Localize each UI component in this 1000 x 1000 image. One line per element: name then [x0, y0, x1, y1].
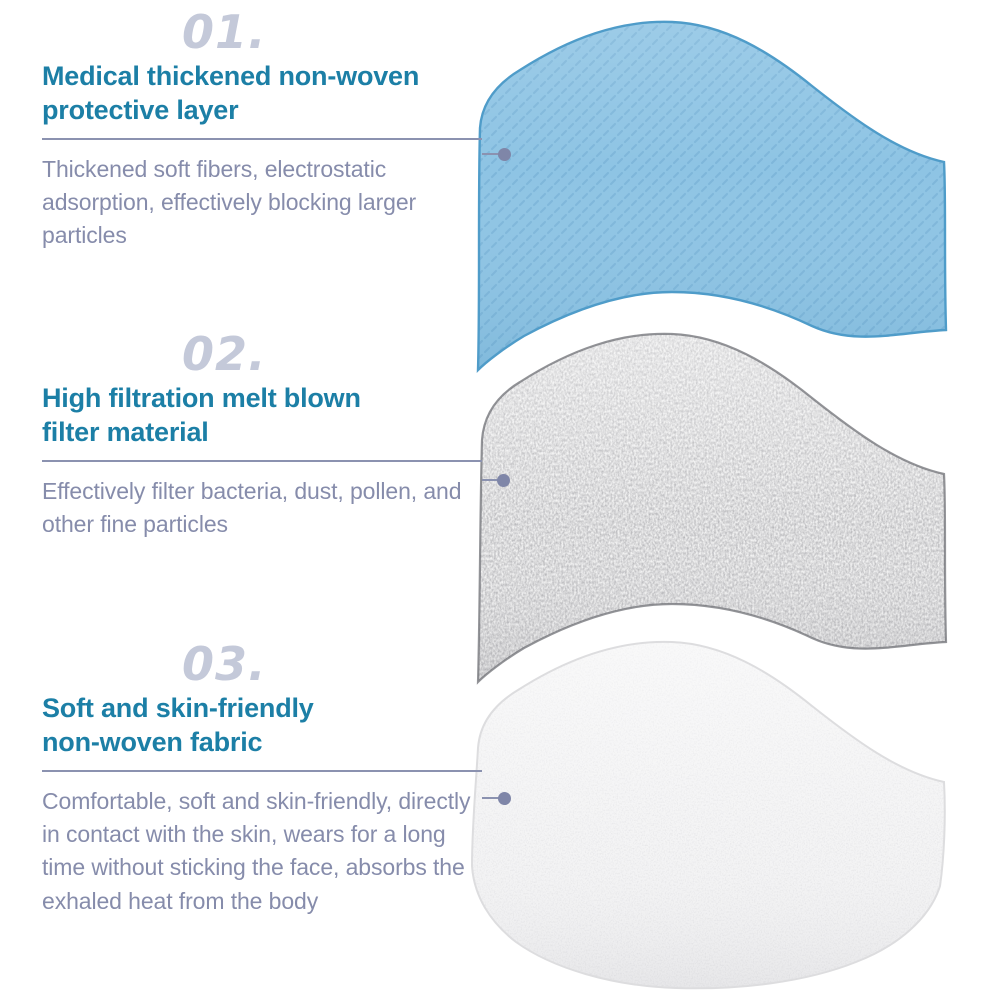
section-03-divider — [42, 770, 482, 772]
section-02-title-line-2: filter material — [42, 417, 209, 447]
section-01-body: Thickened soft fibers, electrostatic ads… — [42, 153, 492, 253]
section-03-body: Comfortable, soft and skin-friendly, dir… — [42, 785, 492, 918]
leader-dot-02 — [497, 474, 510, 487]
outer-blue-non-woven-layer — [478, 22, 946, 370]
section-03-title: Soft and skin-friendly non-woven fabric — [42, 692, 492, 760]
section-01-title-line-1: Medical thickened non-woven — [42, 61, 419, 91]
inner-soft-non-woven-layer — [472, 642, 945, 988]
section-03-title-line-2: non-woven fabric — [42, 727, 262, 757]
melt-blown-filter-layer — [478, 334, 946, 682]
section-01-title-line-2: protective layer — [42, 95, 238, 125]
section-01: 01. Medical thickened non-woven protecti… — [42, 8, 492, 276]
section-02-number: 02. — [42, 330, 492, 378]
section-02-divider — [42, 460, 482, 462]
infographic-canvas: 01. Medical thickened non-woven protecti… — [0, 0, 1000, 1000]
section-03-title-line-1: Soft and skin-friendly — [42, 693, 314, 723]
section-02-body: Effectively filter bacteria, dust, polle… — [42, 475, 492, 542]
leader-dot-03 — [498, 792, 511, 805]
section-02-title: High filtration melt blown filter materi… — [42, 382, 492, 450]
section-01-title: Medical thickened non-woven protective l… — [42, 60, 492, 128]
section-03-number: 03. — [42, 640, 492, 688]
section-03: 03. Soft and skin-friendly non-woven fab… — [42, 640, 492, 941]
leader-dot-01 — [498, 148, 511, 161]
section-02: 02. High filtration melt blown filter ma… — [42, 330, 492, 564]
section-01-number: 01. — [42, 8, 492, 56]
section-02-title-line-1: High filtration melt blown — [42, 383, 361, 413]
section-01-divider — [42, 138, 482, 140]
